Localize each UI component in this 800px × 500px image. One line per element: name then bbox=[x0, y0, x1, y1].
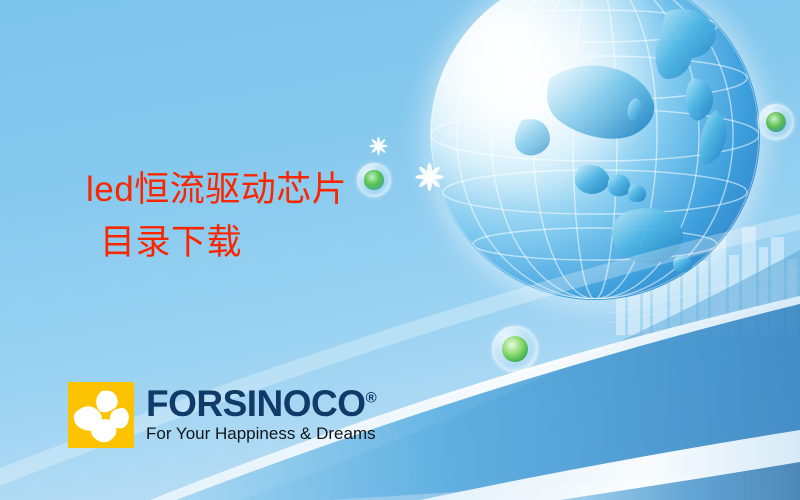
headline: led恒流驱动芯片 目录下载 bbox=[86, 163, 347, 269]
promo-banner: led恒流驱动芯片 目录下载 FORSINOCO® For Your Happi… bbox=[0, 0, 800, 500]
logo-brand-word: FORSINOCO bbox=[146, 383, 366, 424]
logo-brand-name: FORSINOCO® bbox=[146, 385, 376, 422]
bubble-globe-right bbox=[758, 104, 794, 140]
headline-line-1: led恒流驱动芯片 bbox=[86, 170, 347, 209]
headline-line-2: 目录下载 bbox=[86, 216, 347, 269]
brand-logo: FORSINOCO® For Your Happiness & Dreams bbox=[68, 382, 376, 448]
forsinoco-pinwheel-mark bbox=[68, 382, 134, 448]
bubble-sprout-lower bbox=[492, 326, 538, 372]
logo-tagline: For Your Happiness & Dreams bbox=[146, 425, 376, 442]
registered-trademark-symbol: ® bbox=[366, 390, 377, 407]
bubble-globe-upper bbox=[357, 163, 391, 197]
